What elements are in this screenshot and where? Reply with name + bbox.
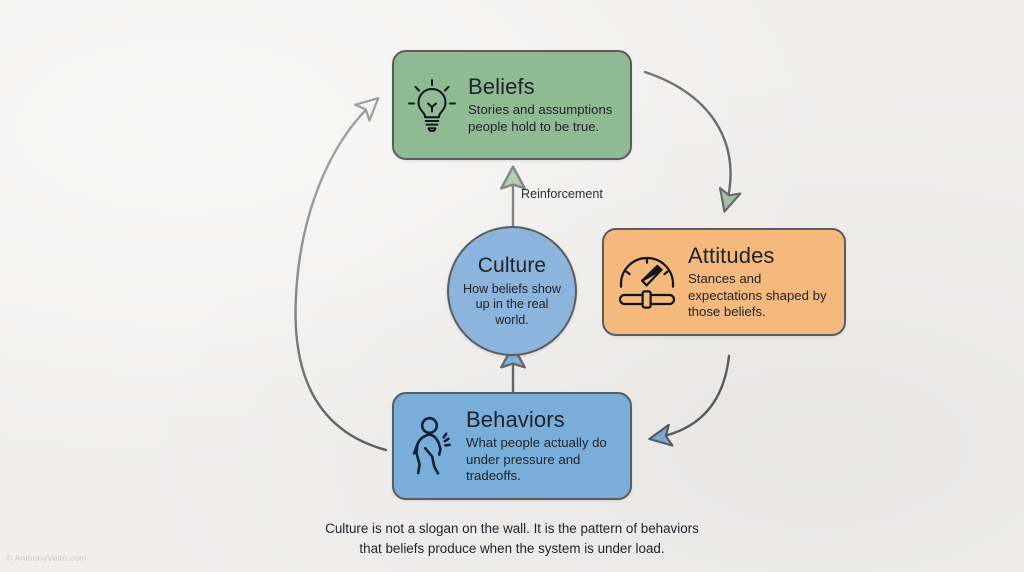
node-behaviors[interactable]: Behaviors What people actually do under …: [392, 392, 632, 500]
caption-line-2: that beliefs produce when the system is …: [0, 539, 1024, 559]
edge-beliefs-to-attitudes: [645, 72, 731, 206]
node-attitudes-title: Attitudes: [688, 243, 830, 268]
gauge-slider-icon: [616, 253, 678, 311]
node-attitudes[interactable]: Attitudes Stances and expectations shape…: [602, 228, 846, 336]
node-behaviors-description: What people actually do under pressure a…: [466, 435, 616, 486]
diagram-caption: Culture is not a slogan on the wall. It …: [0, 519, 1024, 559]
node-beliefs-title: Beliefs: [468, 74, 616, 99]
node-culture[interactable]: Culture How beliefs show up in the real …: [447, 226, 577, 356]
lightbulb-icon: [406, 76, 458, 134]
node-beliefs-description: Stories and assumptions people hold to b…: [468, 102, 616, 136]
edge-behaviors-to-beliefs: [296, 102, 386, 450]
diagram-canvas: Beliefs Stories and assumptions people h…: [0, 0, 1024, 572]
node-attitudes-description: Stances and expectations shaped by those…: [688, 271, 830, 322]
watermark: © AnthonyVeltri.com: [6, 553, 86, 563]
node-beliefs[interactable]: Beliefs Stories and assumptions people h…: [392, 50, 632, 160]
edge-attitudes-to-behaviors: [655, 356, 729, 438]
node-beliefs-text: Beliefs Stories and assumptions people h…: [468, 74, 616, 136]
node-culture-description: How beliefs show up in the real world.: [460, 282, 564, 329]
walking-person-icon: [406, 415, 456, 477]
caption-line-1: Culture is not a slogan on the wall. It …: [0, 519, 1024, 539]
node-attitudes-text: Attitudes Stances and expectations shape…: [688, 243, 830, 322]
edge-label-reinforcement: Reinforcement: [521, 187, 603, 201]
node-culture-title: Culture: [478, 254, 546, 278]
node-behaviors-title: Behaviors: [466, 407, 616, 432]
node-behaviors-text: Behaviors What people actually do under …: [466, 407, 616, 486]
